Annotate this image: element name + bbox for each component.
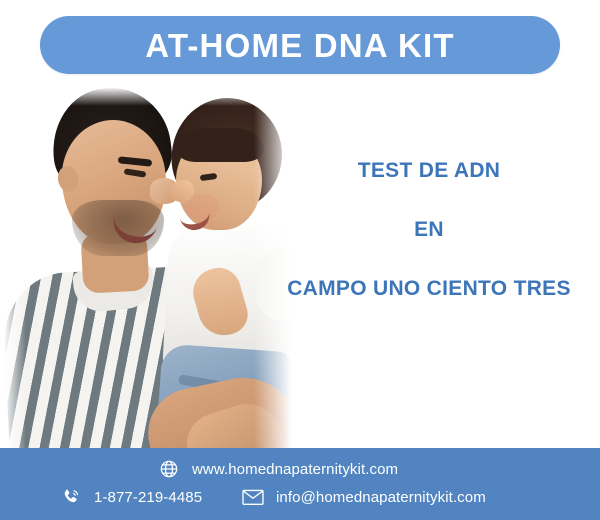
envelope-icon (242, 486, 264, 508)
footer-email-row[interactable]: info@homednapaternitykit.com (242, 486, 486, 508)
baby-fringe (176, 128, 264, 162)
header-banner: AT-HOME DNA KIT (40, 16, 560, 74)
promo-line-preposition: EN (258, 219, 600, 240)
footer-email-text: info@homednapaternitykit.com (276, 490, 486, 505)
photo-edge-fade-left (0, 82, 26, 472)
baby-nose (170, 180, 194, 202)
promo-line-location: CAMPO UNO CIENTO TRES (258, 278, 600, 299)
hero-photo (0, 82, 302, 472)
phone-icon (60, 486, 82, 508)
footer-website-row[interactable]: www.homednapaternitykit.com (158, 458, 398, 480)
photo-edge-fade-top (0, 82, 302, 106)
footer-phone-text: 1-877-219-4485 (94, 490, 202, 505)
footer-website-text: www.homednapaternitykit.com (192, 462, 398, 477)
globe-icon (158, 458, 180, 480)
promo-text-block: TEST DE ADN EN CAMPO UNO CIENTO TRES (258, 160, 600, 299)
page-title: AT-HOME DNA KIT (145, 29, 454, 62)
footer-phone-row[interactable]: 1-877-219-4485 (60, 486, 202, 508)
promo-line-service: TEST DE ADN (258, 160, 600, 181)
dna-test-poster: AT-HOME DNA KIT (0, 0, 600, 520)
contact-footer: www.homednapaternitykit.com 1-877-219-44… (0, 448, 600, 520)
photo-canvas (0, 82, 302, 472)
